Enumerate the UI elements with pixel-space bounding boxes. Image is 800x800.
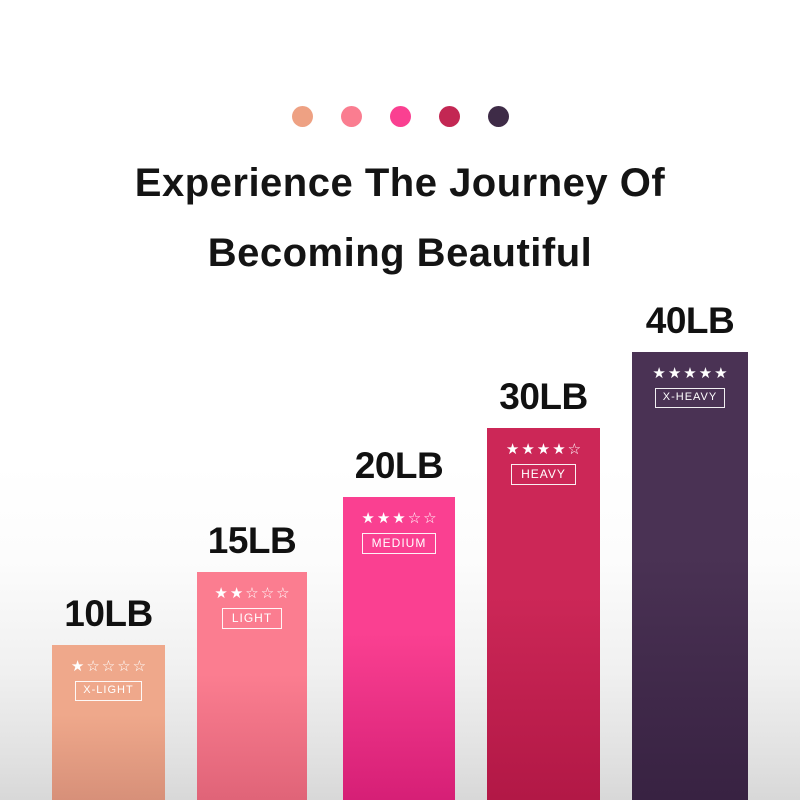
star-empty-icon: ☆ (245, 586, 258, 601)
resistance-band-bar-chart: 10LB★☆☆☆☆X-LIGHT15LB★★☆☆☆LIGHT20LB★★★☆☆M… (0, 280, 800, 800)
star-filled-icon: ★ (521, 442, 534, 457)
dot-light (341, 106, 362, 127)
star-filled-icon: ★ (214, 586, 227, 601)
resistance-level-badge: X-LIGHT (75, 681, 141, 701)
resistance-level-badge: HEAVY (511, 464, 576, 485)
bar-column-x-heavy[interactable]: 40LB★★★★★X-HEAVY (632, 302, 748, 800)
star-filled-icon: ★ (668, 366, 681, 381)
dot-heavy (439, 106, 460, 127)
star-filled-icon: ★ (230, 586, 243, 601)
star-filled-icon: ★ (699, 366, 712, 381)
star-empty-icon: ☆ (408, 511, 421, 526)
bar-body: ★☆☆☆☆X-LIGHT (52, 645, 165, 800)
star-rating: ★☆☆☆☆ (71, 659, 146, 674)
bar-body: ★★☆☆☆LIGHT (197, 572, 307, 800)
bar-body: ★★★★★X-HEAVY (632, 352, 748, 800)
star-filled-icon: ★ (683, 366, 696, 381)
star-rating: ★★★★☆ (506, 442, 581, 457)
star-filled-icon: ★ (714, 366, 727, 381)
page-title-line-1: Experience The Journey Of (0, 148, 800, 218)
bar-value-label: 30LB (499, 378, 587, 415)
bar-body: ★★★★☆HEAVY (487, 428, 600, 800)
dot-x-heavy (488, 106, 509, 127)
star-filled-icon: ★ (361, 511, 374, 526)
bar-column-light[interactable]: 15LB★★☆☆☆LIGHT (197, 522, 307, 800)
star-filled-icon: ★ (652, 366, 665, 381)
bar-column-heavy[interactable]: 30LB★★★★☆HEAVY (487, 378, 600, 800)
star-empty-icon: ☆ (568, 442, 581, 457)
bar-column-medium[interactable]: 20LB★★★☆☆MEDIUM (343, 447, 455, 800)
star-empty-icon: ☆ (117, 659, 130, 674)
star-empty-icon: ☆ (276, 586, 289, 601)
bar-value-label: 40LB (646, 302, 734, 339)
star-empty-icon: ☆ (261, 586, 274, 601)
star-filled-icon: ★ (392, 511, 405, 526)
bar-value-label: 10LB (64, 595, 152, 632)
star-rating: ★★★☆☆ (361, 511, 436, 526)
star-empty-icon: ☆ (86, 659, 99, 674)
resistance-level-badge: MEDIUM (362, 533, 437, 554)
dot-medium (390, 106, 411, 127)
bar-column-x-light[interactable]: 10LB★☆☆☆☆X-LIGHT (52, 595, 165, 800)
bar-value-label: 20LB (355, 447, 443, 484)
page-title-line-2: Becoming Beautiful (0, 218, 800, 288)
star-filled-icon: ★ (71, 659, 84, 674)
dot-x-light (292, 106, 313, 127)
star-filled-icon: ★ (537, 442, 550, 457)
star-filled-icon: ★ (506, 442, 519, 457)
star-empty-icon: ☆ (133, 659, 146, 674)
bar-value-label: 15LB (208, 522, 296, 559)
bar-body: ★★★☆☆MEDIUM (343, 497, 455, 800)
star-filled-icon: ★ (552, 442, 565, 457)
page-title: Experience The Journey Of Becoming Beaut… (0, 148, 800, 288)
resistance-level-badge: X-HEAVY (655, 388, 725, 408)
star-empty-icon: ☆ (102, 659, 115, 674)
resistance-level-badge: LIGHT (222, 608, 282, 629)
star-rating: ★★☆☆☆ (214, 586, 289, 601)
color-swatch-row (0, 106, 800, 127)
star-empty-icon: ☆ (423, 511, 436, 526)
star-rating: ★★★★★ (652, 366, 727, 381)
star-filled-icon: ★ (377, 511, 390, 526)
